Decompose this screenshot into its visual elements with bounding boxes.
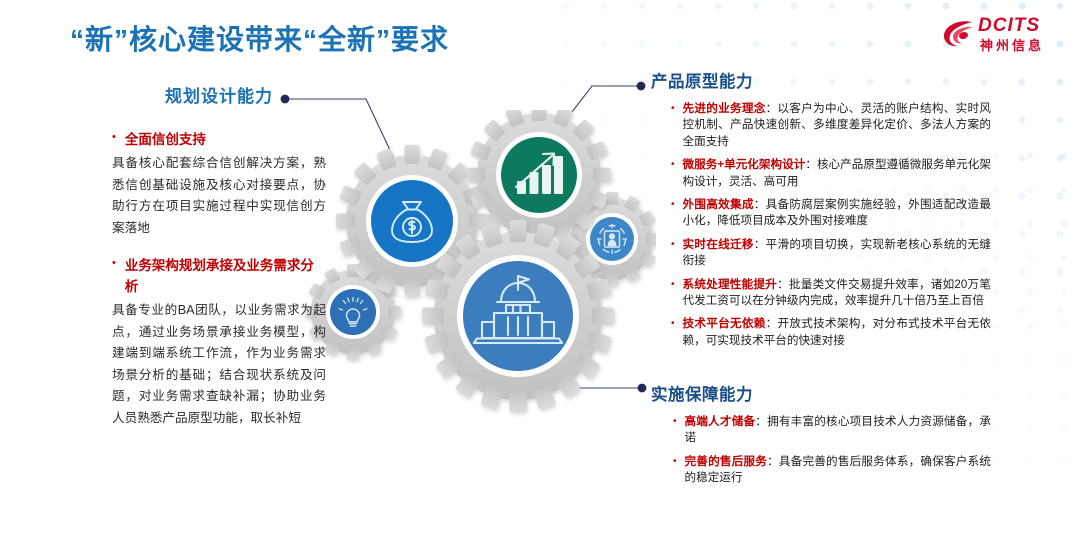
- list-item-separator: ：: [755, 415, 767, 428]
- right-top-column: 产品原型能力 •先进的业务理念：以客户为中心、灵活的账户结构、实时风控机制、产品…: [651, 68, 991, 356]
- brand-logo: DCITS 神州信息: [942, 14, 1066, 54]
- left-section-heading: 规划设计能力: [112, 82, 326, 107]
- left-capability-column: 规划设计能力 • 全面信创支持 具备核心配套综合信创解决方案，熟悉信创基础设施及…: [112, 82, 326, 429]
- list-item: •完善的售后服务：具备完善的售后服务体系，确保客户系统的稳定运行: [651, 454, 991, 487]
- list-item: •先进的业务理念：以客户为中心、灵活的账户结构、实时风控机制、产品快速创新、多维…: [651, 101, 991, 150]
- list-item-separator: ：: [766, 102, 778, 115]
- right-bottom-list: •高端人才储备：拥有丰富的核心项目技术人力资源储备，承诺•完善的售后服务：具备完…: [651, 414, 991, 487]
- left-bullet-2: • 业务架构规划承接及业务需求分析: [112, 255, 326, 297]
- bullet-dot-icon: •: [673, 414, 677, 447]
- slide-canvas: “新”核心建设带来“全新”要求 DCITS 神州信息: [0, 0, 1080, 540]
- bullet-dot-icon: •: [112, 255, 116, 297]
- list-item-text: 实时在线迁移：平滑的项目切换，实现新老核心系统的无缝衔接: [683, 237, 991, 270]
- list-item-separator: ：: [805, 158, 817, 171]
- list-item: •高端人才储备：拥有丰富的核心项目技术人力资源储备，承诺: [651, 414, 991, 447]
- swoosh-logo-icon: [942, 18, 976, 50]
- brand-name: DCITS: [978, 15, 1040, 37]
- list-item-separator: ：: [777, 278, 789, 291]
- list-item-text: 技术平台无依赖：开放式技术架构，对分布式技术平台无依赖，可实现技术平台的快速对接: [683, 316, 991, 349]
- list-item-lead: 系统处理性能提升: [683, 278, 778, 291]
- bullet-dot-icon: •: [671, 157, 675, 190]
- list-item-lead: 先进的业务理念: [683, 102, 766, 115]
- list-item-separator: ：: [766, 317, 778, 330]
- bullet-dot-icon: •: [673, 454, 677, 487]
- list-item-separator: ：: [754, 238, 766, 251]
- list-item: •外围高效集成：具备防腐层案例实施经验，外围适配改造最小化，降低项目成本及外围对…: [651, 197, 991, 230]
- list-item-lead: 技术平台无依赖: [683, 317, 766, 330]
- list-item-text: 高端人才储备：拥有丰富的核心项目技术人力资源储备，承诺: [685, 414, 991, 447]
- list-item-text: 完善的售后服务：具备完善的售后服务体系，确保客户系统的稳定运行: [685, 454, 991, 487]
- list-item: •微服务+单元化架构设计：核心产品原型遵循微服务单元化架构设计，灵活、高可用: [651, 157, 991, 190]
- left-bullet-1-body: 具备核心配套综合信创解决方案，熟悉信创基础设施及核心对接要点，协助行方在项目实施…: [112, 153, 326, 239]
- list-item: •系统处理性能提升：批量类文件交易提升效率，诸如20万笔代发工资可以在分钟级内完…: [651, 277, 991, 310]
- bullet-dot-icon: •: [671, 237, 675, 270]
- list-item-lead: 实时在线迁移: [683, 238, 754, 251]
- list-item-lead: 外围高效集成: [683, 198, 754, 211]
- list-item-text: 外围高效集成：具备防腐层案例实施经验，外围适配改造最小化，降低项目成本及外围对接…: [683, 197, 991, 230]
- list-item-separator: ：: [767, 455, 779, 468]
- list-item-text: 系统处理性能提升：批量类文件交易提升效率，诸如20万笔代发工资可以在分钟级内完成…: [683, 277, 991, 310]
- brand-name-cn: 神州信息: [980, 35, 1044, 54]
- list-item-text: 先进的业务理念：以客户为中心、灵活的账户结构、实时风控机制、产品快速创新、多维度…: [683, 101, 991, 150]
- left-bullet-1: • 全面信创支持: [112, 129, 326, 150]
- bullet-dot-icon: •: [112, 129, 116, 150]
- right-top-list: •先进的业务理念：以客户为中心、灵活的账户结构、实时风控机制、产品快速创新、多维…: [651, 101, 991, 349]
- list-item-lead: 微服务+单元化架构设计: [683, 158, 806, 171]
- list-item-separator: ：: [754, 198, 766, 211]
- left-bullet-1-title: 全面信创支持: [125, 129, 206, 150]
- list-item-lead: 完善的售后服务: [685, 455, 768, 468]
- right-bottom-column: 实施保障能力 •高端人才储备：拥有丰富的核心项目技术人力资源储备，承诺•完善的售…: [651, 381, 991, 494]
- list-item-text: 微服务+单元化架构设计：核心产品原型遵循微服务单元化架构设计，灵活、高可用: [683, 157, 991, 190]
- gear-cluster-graphic: [296, 110, 656, 430]
- page-title: “新”核心建设带来“全新”要求: [70, 18, 449, 58]
- bullet-dot-icon: •: [671, 197, 675, 230]
- right-bottom-heading: 实施保障能力: [651, 381, 991, 405]
- list-item-lead: 高端人才储备: [685, 415, 756, 428]
- bullet-dot-icon: •: [671, 101, 675, 150]
- list-item: •实时在线迁移：平滑的项目切换，实现新老核心系统的无缝衔接: [651, 237, 991, 270]
- list-item: •技术平台无依赖：开放式技术架构，对分布式技术平台无依赖，可实现技术平台的快速对…: [651, 316, 991, 349]
- bullet-dot-icon: •: [671, 316, 675, 349]
- right-top-heading: 产品原型能力: [651, 68, 991, 92]
- left-bullet-2-title: 业务架构规划承接及业务需求分析: [125, 255, 326, 297]
- bullet-dot-icon: •: [671, 277, 675, 310]
- left-bullet-2-body: 具备专业的BA团队，以业务需求为起点，通过业务场景承接业务模型，构建端到端系统工…: [112, 300, 326, 429]
